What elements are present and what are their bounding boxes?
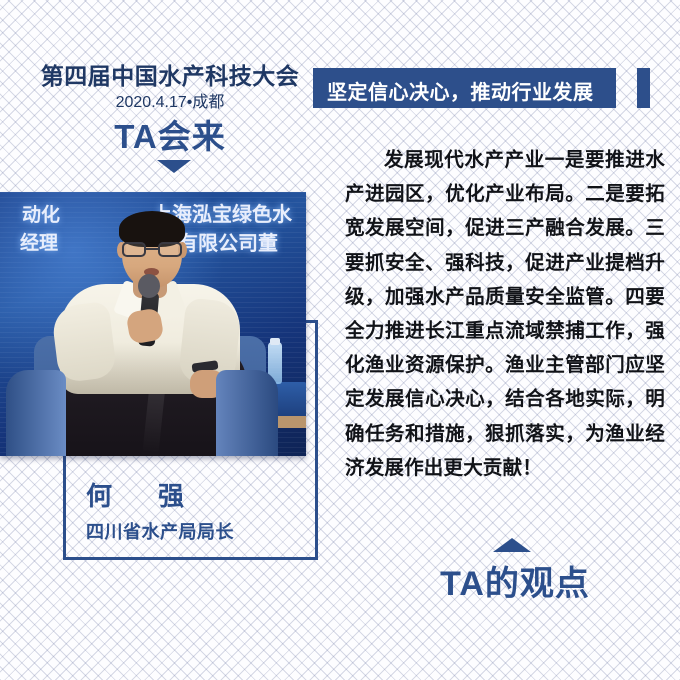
speaker-name: 何 强: [86, 476, 194, 513]
chair-armrest-left: [6, 370, 66, 456]
eyeglass-bridge: [146, 248, 158, 250]
conference-title: 第四届中国水产科技大会: [0, 57, 340, 91]
headline-text: 坚定信心决心，推动行业发展: [327, 76, 607, 105]
section-label-ta-come: TA会来: [0, 110, 340, 158]
eyeglass-lens-left: [122, 242, 146, 257]
screen-text-left-line1: 动化: [22, 200, 60, 227]
speaker-role: 四川省水产局局长: [86, 518, 234, 544]
headline-banner-accent-bar: [637, 68, 650, 108]
eyeglasses-icon: [121, 242, 183, 257]
triangle-down-icon: [157, 160, 191, 173]
microphone-head: [138, 274, 160, 298]
speaker-photo: 动化 经理 上海泓宝绿色水 份有限公司董: [0, 192, 306, 456]
section-label-ta-view: TA的观点: [400, 556, 630, 605]
triangle-up-icon: [493, 538, 531, 552]
quote-body-text: 发展现代水产产业一是要推进水产进园区，优化产业布局。二是要拓宽发展空间，促进三产…: [345, 143, 665, 485]
chair-armrest-right: [216, 370, 278, 456]
screen-text-left-line2: 经理: [20, 228, 58, 255]
water-bottle-cap: [270, 338, 280, 345]
conference-date-location: 2020.4.17•成都: [0, 88, 340, 112]
poster-canvas: 第四届中国水产科技大会 2020.4.17•成都 TA会来 动化 经理 上海泓宝…: [0, 0, 680, 680]
eyeglass-lens-right: [158, 242, 182, 257]
